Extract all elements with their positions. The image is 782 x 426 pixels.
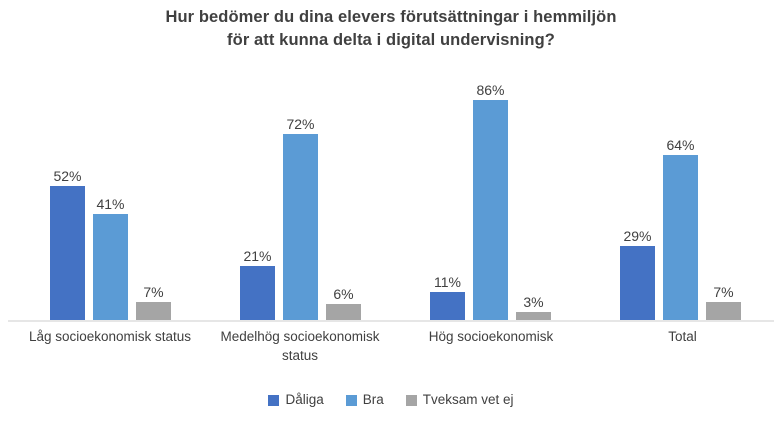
bar-tveksam-vet-ej[interactable] bbox=[136, 302, 171, 320]
chart-legend: Dåliga Bra Tveksam vet ej bbox=[0, 392, 782, 408]
bar-value-label: 64% bbox=[654, 137, 707, 153]
bar-group-total: 29% 64% 7% bbox=[620, 64, 741, 320]
category-label-medelhog-socioekonomisk-status: Medelhög socioekonomisk status bbox=[210, 327, 390, 365]
legend-swatch-icon bbox=[346, 395, 357, 406]
legend-label: Tveksam vet ej bbox=[423, 392, 514, 408]
bar-daliga[interactable] bbox=[430, 292, 465, 320]
bar-daliga[interactable] bbox=[240, 266, 275, 320]
legend-label: Bra bbox=[363, 392, 384, 408]
legend-swatch-icon bbox=[406, 395, 417, 406]
legend-item-bra[interactable]: Bra bbox=[346, 392, 384, 408]
bar-daliga[interactable] bbox=[620, 246, 655, 320]
bar-group-lag-socioekonomisk-status: 52% 41% 7% bbox=[50, 64, 171, 320]
bar-value-label: 21% bbox=[231, 248, 284, 264]
chart-title: Hur bedömer du dina elevers förutsättnin… bbox=[0, 6, 782, 52]
chart-title-line-1: Hur bedömer du dina elevers förutsättnin… bbox=[0, 6, 782, 29]
bar-bra[interactable] bbox=[473, 100, 508, 320]
legend-swatch-icon bbox=[268, 395, 279, 406]
bar-group-hog-socioekonomisk: 11% 86% 3% bbox=[430, 64, 551, 320]
legend-item-tveksam-vet-ej[interactable]: Tveksam vet ej bbox=[406, 392, 514, 408]
chart-title-line-2: för att kunna delta i digital undervisni… bbox=[0, 29, 782, 52]
bar-bra[interactable] bbox=[283, 134, 318, 320]
bar-value-label: 6% bbox=[317, 286, 370, 302]
bar-value-label: 11% bbox=[421, 274, 474, 290]
bar-tveksam-vet-ej[interactable] bbox=[516, 312, 551, 320]
bar-bra[interactable] bbox=[663, 155, 698, 320]
legend-item-daliga[interactable]: Dåliga bbox=[268, 392, 323, 408]
bar-daliga[interactable] bbox=[50, 186, 85, 320]
bar-group-medelhog-socioekonomisk-status: 21% 72% 6% bbox=[240, 64, 361, 320]
bar-value-label: 72% bbox=[274, 116, 327, 132]
bar-value-label: 41% bbox=[84, 196, 137, 212]
category-label-lag-socioekonomisk-status: Låg socioekonomisk status bbox=[15, 327, 205, 346]
bar-tveksam-vet-ej[interactable] bbox=[706, 302, 741, 320]
category-label-hog-socioekonomisk: Hög socioekonomisk bbox=[400, 327, 582, 346]
bar-value-label: 52% bbox=[41, 168, 94, 184]
category-label-total: Total bbox=[600, 327, 765, 346]
bar-value-label: 86% bbox=[464, 82, 517, 98]
bar-chart: Hur bedömer du dina elevers förutsättnin… bbox=[0, 0, 782, 426]
plot-area: 52% 41% 7% 21% 72% 6% bbox=[0, 64, 782, 322]
x-axis-labels: Låg socioekonomisk status Medelhög socio… bbox=[0, 327, 782, 375]
bar-tveksam-vet-ej[interactable] bbox=[326, 304, 361, 320]
bar-value-label: 7% bbox=[127, 284, 180, 300]
bar-value-label: 3% bbox=[507, 294, 560, 310]
bar-value-label: 7% bbox=[697, 284, 750, 300]
x-axis-line bbox=[8, 320, 774, 322]
bar-bra[interactable] bbox=[93, 214, 128, 320]
bar-value-label: 29% bbox=[611, 228, 664, 244]
legend-label: Dåliga bbox=[285, 392, 323, 408]
